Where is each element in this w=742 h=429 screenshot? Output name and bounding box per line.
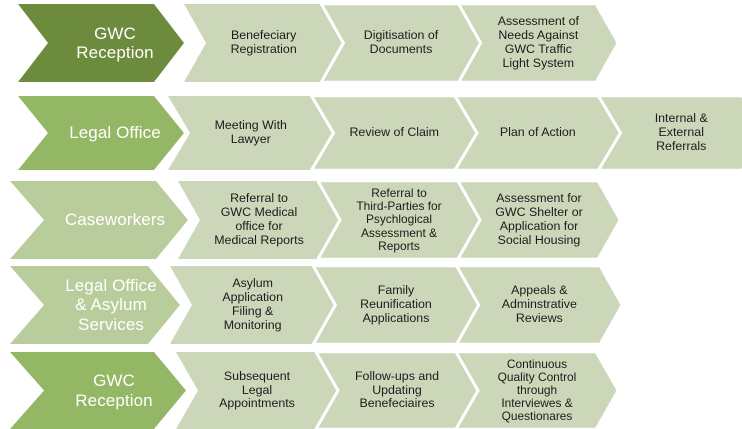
process-row: Legal OfficeMeeting WithLawyerReview of … xyxy=(0,96,742,170)
process-step-chevron xyxy=(459,4,618,82)
process-row: GWCReceptionSubsequentLegalAppointmentsF… xyxy=(0,352,742,429)
process-row: CaseworkersReferral toGWC Medicaloffice … xyxy=(0,181,742,259)
process-step-chevron xyxy=(313,266,478,344)
process-step-chevron xyxy=(312,96,478,170)
process-step-chevron xyxy=(321,4,480,82)
row-header-chevron xyxy=(10,266,180,344)
process-step-chevron xyxy=(456,352,618,429)
process-step-chevron xyxy=(316,352,478,429)
process-step-chevron xyxy=(168,96,334,170)
process-row: Legal Office& AsylumServicesAsylumApplic… xyxy=(0,266,742,344)
process-step-chevron xyxy=(455,96,621,170)
process-step-chevron xyxy=(318,181,480,259)
process-step-chevron xyxy=(170,266,335,344)
process-step-chevron xyxy=(178,181,340,259)
process-step-chevron xyxy=(457,266,622,344)
process-step-chevron xyxy=(458,181,620,259)
process-step-chevron xyxy=(176,352,338,429)
row-header-chevron xyxy=(10,352,186,429)
row-header-chevron xyxy=(10,181,188,259)
process-step-chevron xyxy=(184,4,343,82)
process-row: GWCReceptionBenefeciaryRegistrationDigit… xyxy=(0,4,742,82)
row-header-chevron xyxy=(18,96,184,170)
row-header-chevron xyxy=(18,4,184,82)
process-flow-diagram: GWCReceptionBenefeciaryRegistrationDigit… xyxy=(0,0,742,429)
